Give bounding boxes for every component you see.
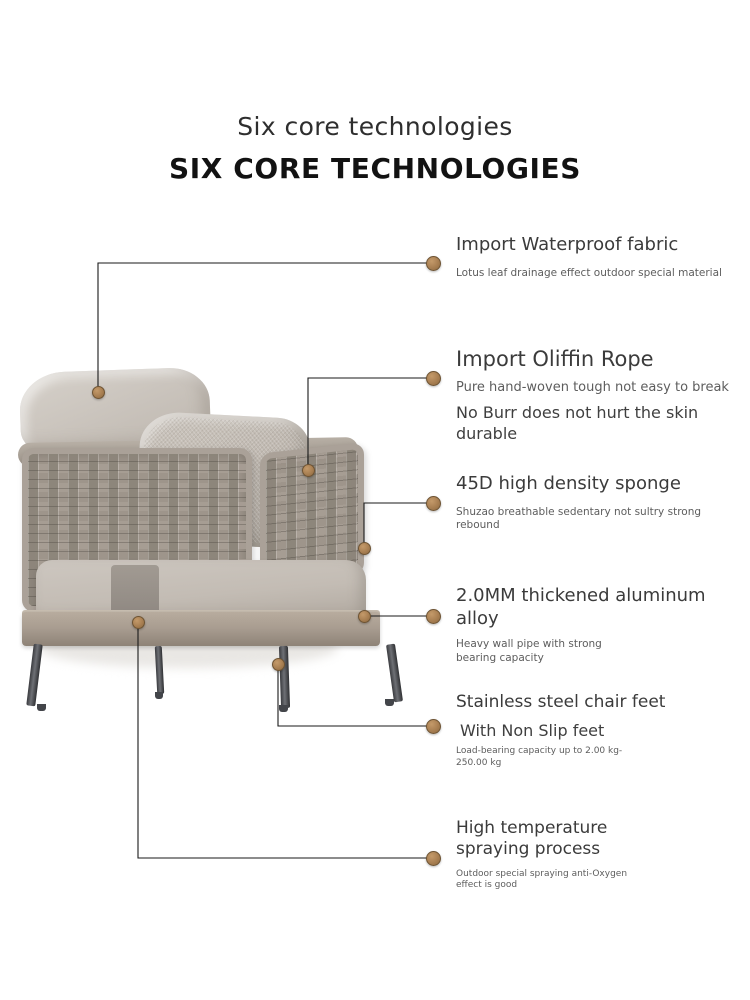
feature-subtitle: Heavy wall pipe with strong bearing capa…: [456, 638, 631, 665]
feature-title: Import Oliffin Rope: [456, 346, 746, 372]
feature-title: 2.0MM thickened aluminum alloy: [456, 585, 726, 630]
feature-subtitle-secondary: No Burr does not hurt the skin durable: [456, 403, 746, 445]
marker-dot-product-oliffin-rope[interactable]: [302, 464, 315, 477]
marker-dot-product-aluminum-alloy[interactable]: [358, 610, 371, 623]
marker-dot-product-spraying[interactable]: [132, 616, 145, 629]
feature-subtitle: Lotus leaf drainage effect outdoor speci…: [456, 267, 746, 281]
infographic-canvas: Six core technologies SIX CORE TECHNOLOG…: [0, 0, 750, 1000]
marker-dot-label-oliffin-rope[interactable]: [426, 371, 441, 386]
feature-subtitle: Pure hand-woven tough not easy to break: [456, 380, 746, 397]
marker-dot-product-sponge[interactable]: [358, 542, 371, 555]
leader-line-waterproof-fabric: [98, 263, 432, 392]
feature-callout-oliffin-rope: Import Oliffin Rope Pure hand-woven toug…: [456, 346, 746, 445]
leader-line-oliffin-rope: [308, 378, 432, 470]
leader-line-spraying: [138, 622, 432, 858]
feature-callout-spraying: High temperature spraying process Outdoo…: [456, 818, 661, 892]
feature-subtitle: With Non Slip feet: [456, 721, 746, 742]
feature-callout-sponge: 45D high density sponge Shuzao breathabl…: [456, 473, 746, 533]
marker-dot-product-chair-feet[interactable]: [272, 658, 285, 671]
feature-title: Stainless steel chair feet: [456, 692, 746, 713]
feature-subtitle: Outdoor special spraying anti-Oxygen eff…: [456, 869, 641, 892]
feature-callout-chair-feet: Stainless steel chair feet With Non Slip…: [456, 692, 746, 769]
feature-title: 45D high density sponge: [456, 473, 746, 496]
feature-title: High temperature spraying process: [456, 818, 661, 861]
feature-callout-aluminum-alloy: 2.0MM thickened aluminum alloy Heavy wal…: [456, 585, 726, 665]
feature-callout-waterproof-fabric: Import Waterproof fabric Lotus leaf drai…: [456, 234, 746, 280]
marker-dot-label-sponge[interactable]: [426, 496, 441, 511]
marker-dot-label-waterproof-fabric[interactable]: [426, 256, 441, 271]
marker-dot-label-spraying[interactable]: [426, 851, 441, 866]
feature-subtitle: Shuzao breathable sedentary not sultry s…: [456, 506, 746, 533]
marker-dot-product-waterproof-fabric[interactable]: [92, 386, 105, 399]
leader-line-chair-feet: [278, 664, 432, 726]
leader-line-sponge: [364, 503, 432, 548]
marker-dot-label-chair-feet[interactable]: [426, 719, 441, 734]
feature-title: Import Waterproof fabric: [456, 234, 746, 257]
marker-dot-label-aluminum-alloy[interactable]: [426, 609, 441, 624]
feature-subtitle-secondary: Load-bearing capacity up to 2.00 kg-250.…: [456, 746, 636, 769]
